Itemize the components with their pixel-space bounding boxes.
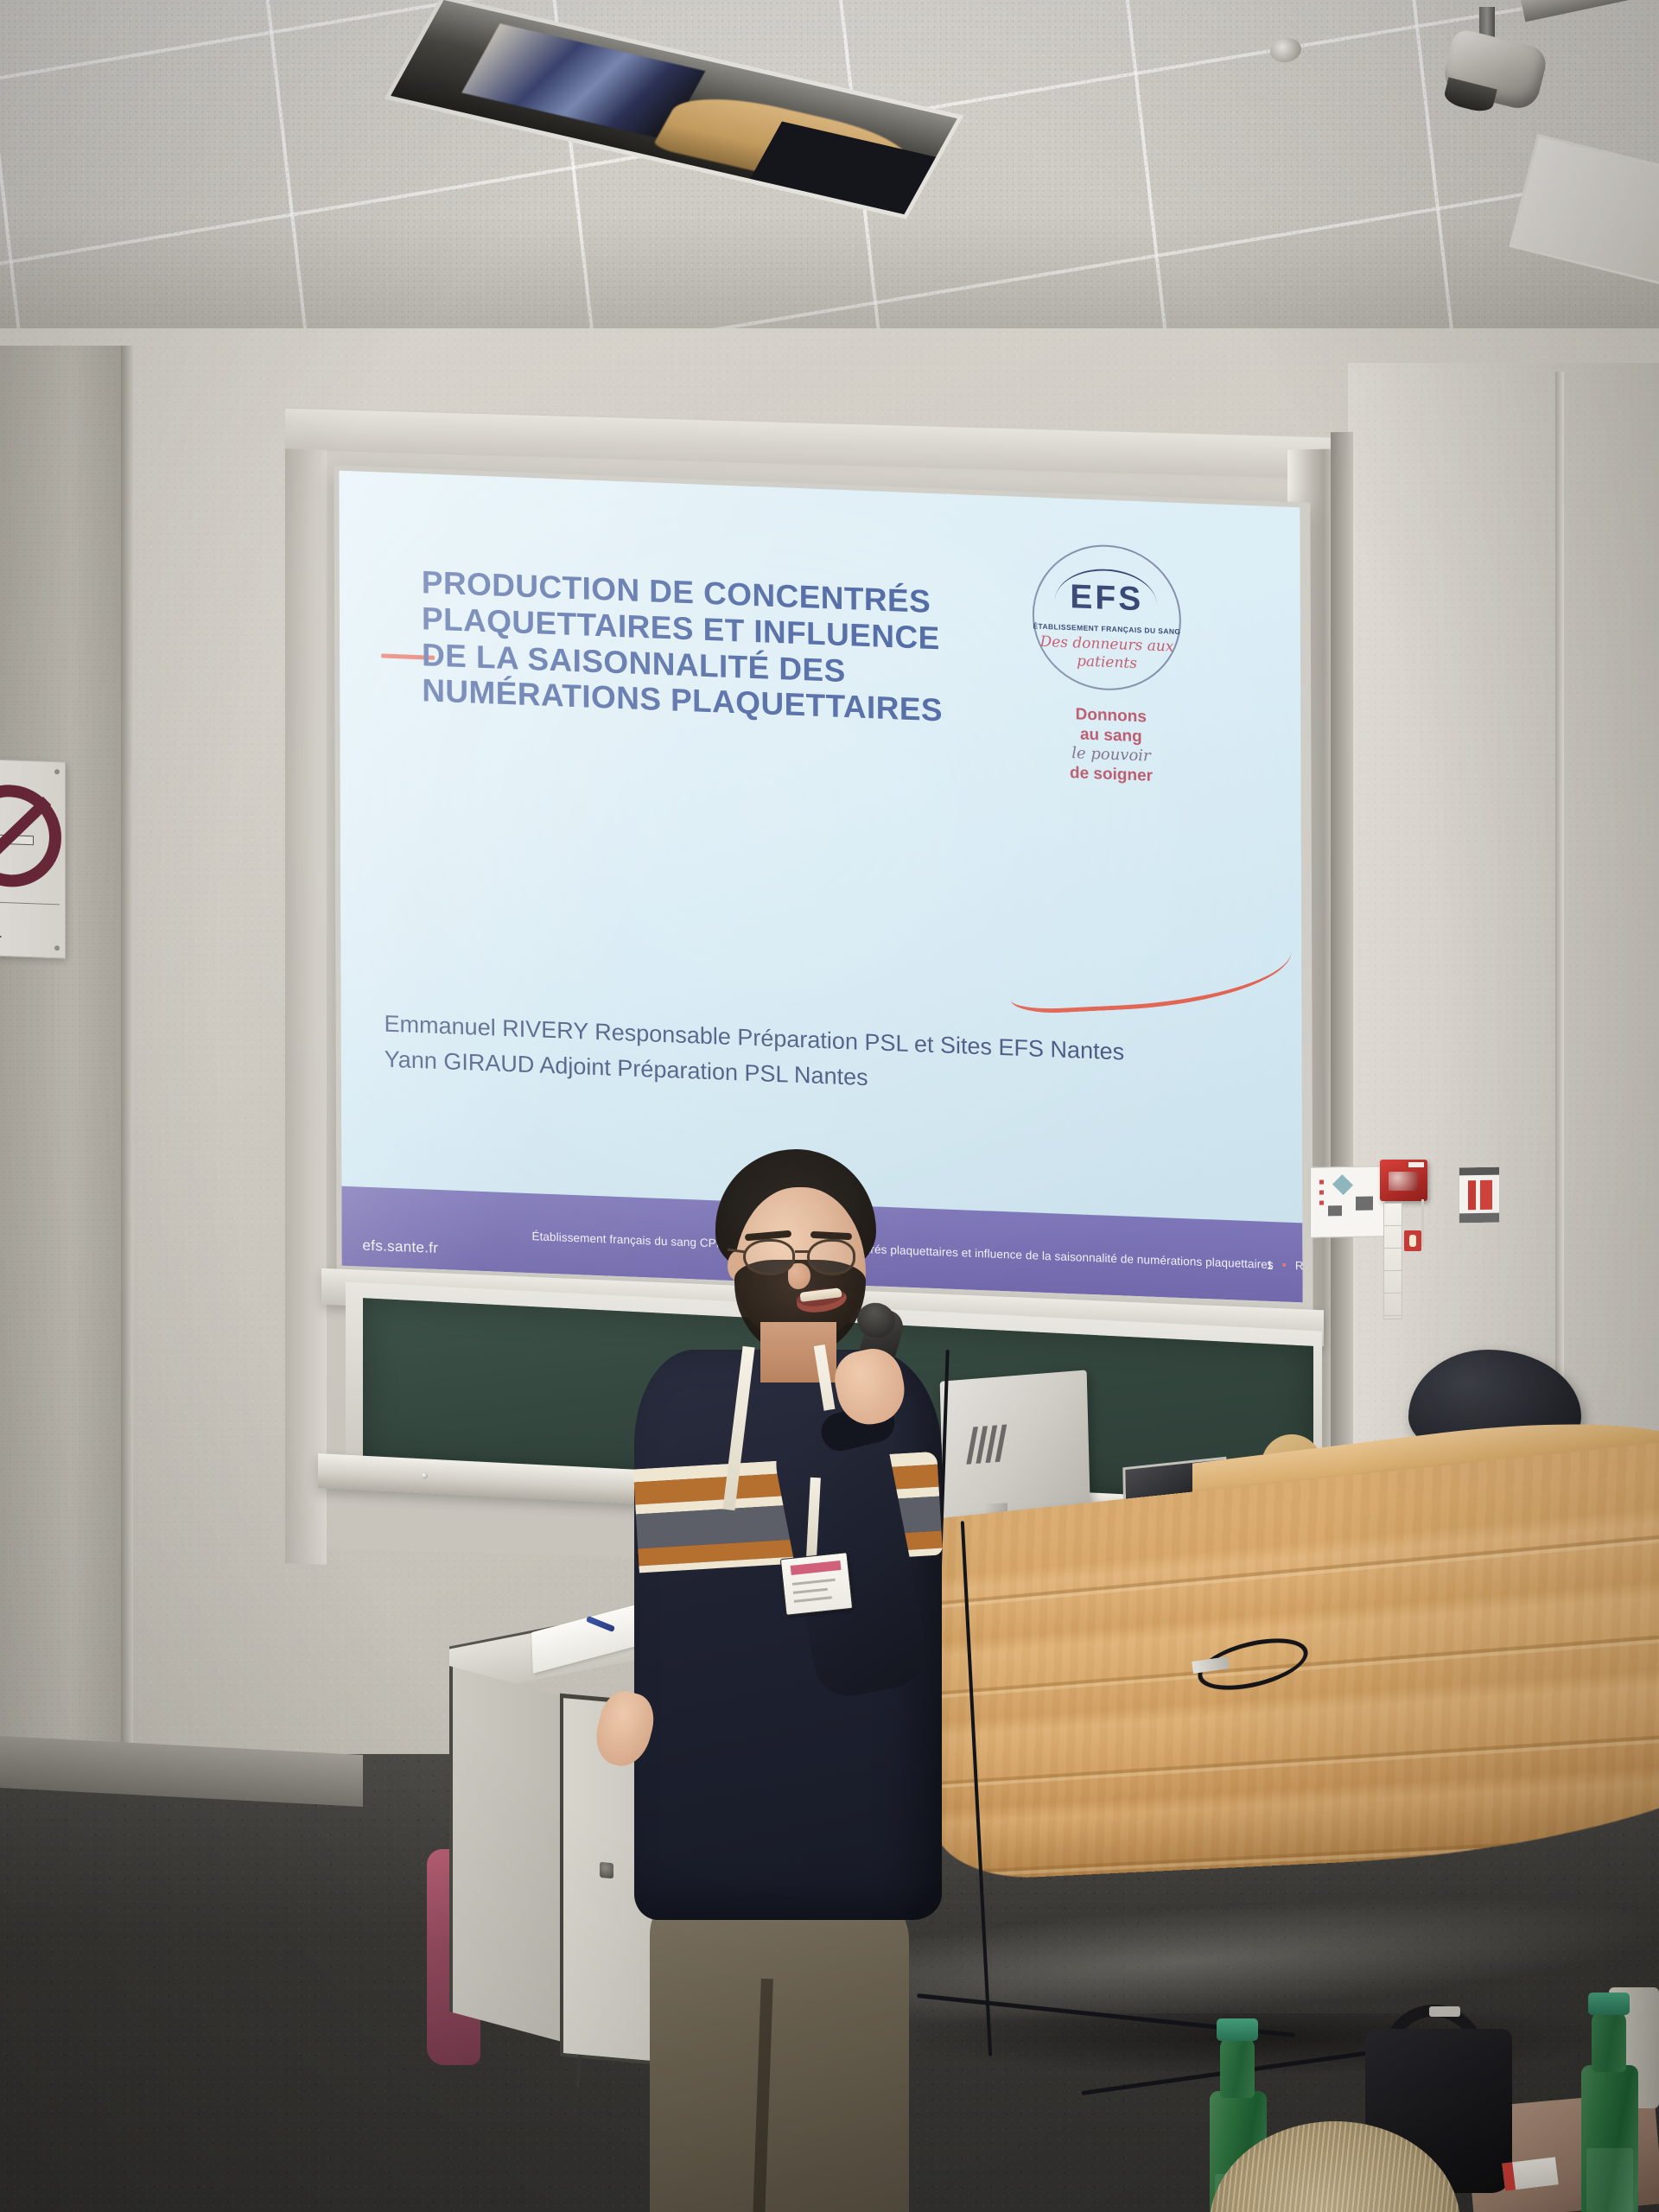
plan-marker [1319, 1179, 1324, 1184]
no-smoking-label: nse mer [0, 908, 54, 953]
name-badge [780, 1552, 853, 1616]
efs-tagline-cursive: le pouvoir [1022, 742, 1199, 768]
light-switch[interactable] [1384, 1204, 1402, 1226]
no-smoking-label-line2: mer [0, 929, 54, 953]
efs-tagline-line2: au sang [1080, 726, 1142, 747]
sign-screw [54, 769, 60, 774]
fire-safety-instruction-poster [1459, 1166, 1500, 1224]
extinguisher-graphic [1480, 1180, 1492, 1210]
sign-screw [54, 945, 60, 950]
efs-tagline-line1: Donnons [1076, 705, 1147, 726]
no-smoking-sign: nse mer [0, 759, 66, 958]
efs-logo-mark: EFS [1022, 576, 1192, 621]
slide-page-number: 1 [1267, 1258, 1274, 1272]
bottle-label [1586, 2148, 1633, 2212]
extinguisher-graphic [1468, 1180, 1476, 1210]
plan-block [1328, 1205, 1342, 1216]
glasses-bridge [795, 1250, 809, 1253]
sign-divider [0, 902, 60, 906]
badge-text-line [793, 1588, 828, 1594]
wall-pillar-edge [121, 346, 133, 1866]
lens-left [743, 1239, 795, 1275]
plan-marker [1319, 1190, 1324, 1194]
badge-color-stripe [791, 1560, 842, 1575]
poster-header [1459, 1167, 1499, 1176]
fire-extinguisher-icon [1404, 1230, 1421, 1251]
lens-right [807, 1239, 855, 1275]
left-wall [0, 346, 130, 1866]
slide-title: PRODUCTION DE CONCENTRÉS PLAQUETTAIRES E… [422, 564, 1027, 732]
evacuation-plan-poster [1310, 1166, 1386, 1238]
bottle-cap [1217, 2018, 1258, 2041]
no-smoking-label-line1: nse [0, 908, 54, 932]
badge-text-line [792, 1579, 836, 1586]
light-switch[interactable] [1384, 1249, 1402, 1271]
presenter [605, 1149, 968, 2212]
cabinet-side-panel [449, 1666, 562, 2042]
alarm-conduit [1421, 1199, 1424, 1247]
efs-logo-script: Des donneurs aux patients [1022, 632, 1192, 676]
water-bottle [1581, 2065, 1638, 2212]
breadcrumb-part-3: Rencontres TACT Tours Lundi 9 mars 2026 [1295, 1259, 1303, 1281]
photo-scene: nse mer PRODUCTION DE CONCENTRÉS PLAQUET… [0, 0, 1659, 2212]
slide-footer-url: efs.sante.fr [362, 1237, 438, 1257]
slide-authors: Emmanuel RIVERY Responsable Préparation … [385, 1007, 1214, 1109]
lectern-desk [933, 1407, 1659, 2098]
presenter-trousers [650, 1892, 909, 2212]
efs-logo: EFS Établissement français du sang Des d… [1022, 542, 1205, 786]
alarm-label [1408, 1162, 1424, 1167]
plan-marker [1319, 1200, 1324, 1205]
left-wall-texture [0, 346, 130, 1866]
plan-shape [1332, 1174, 1353, 1195]
breadcrumb-separator: ▪ [1282, 1258, 1287, 1273]
screen-recess-jamb [285, 448, 327, 1564]
light-switch[interactable] [1384, 1226, 1402, 1249]
light-switch-panel[interactable] [1383, 1203, 1402, 1319]
plan-block [1356, 1196, 1373, 1210]
efs-tagline-line3: de soigner [1070, 764, 1153, 785]
badge-text-line [794, 1596, 832, 1603]
alarm-break-glass[interactable] [1389, 1172, 1418, 1191]
tray-screw [422, 1472, 428, 1478]
bottle-cap [1588, 1993, 1630, 2015]
slide-red-swoosh [1005, 918, 1296, 1015]
fire-alarm-call-point[interactable] [1380, 1160, 1427, 1201]
light-switch[interactable] [1384, 1294, 1402, 1316]
poster-footer [1459, 1213, 1499, 1224]
window-jamb-inner [1331, 432, 1353, 1548]
eyeglasses-icon [741, 1239, 871, 1275]
light-switch[interactable] [1384, 1271, 1402, 1294]
card-color-stripe [1502, 2162, 1516, 2190]
efs-tagline: Donnons au sang le pouvoir de soigner [1022, 702, 1199, 788]
